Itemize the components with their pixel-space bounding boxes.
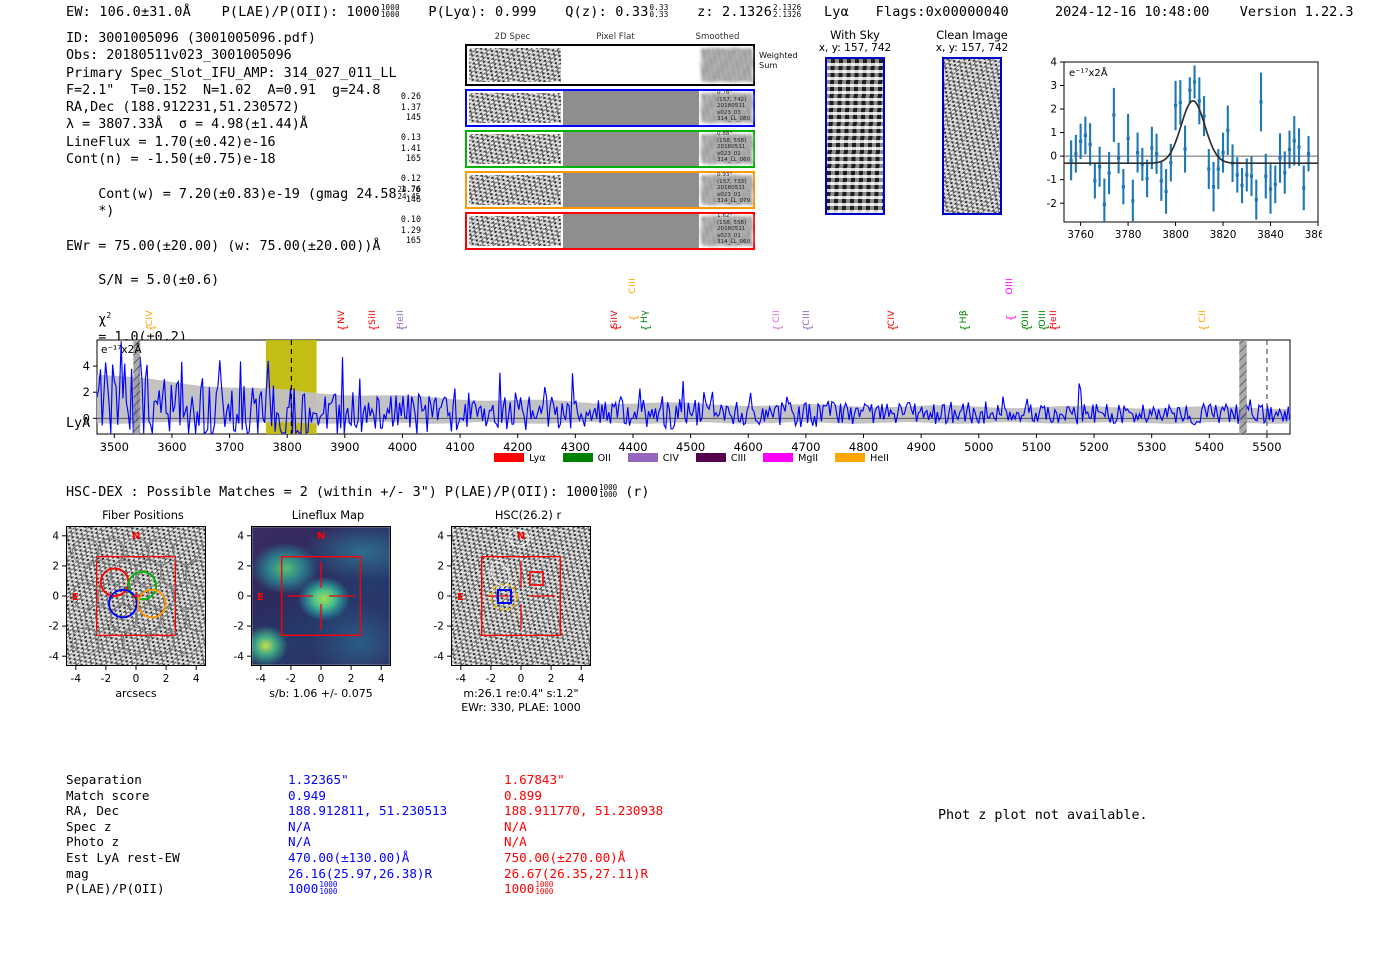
match-col1-value-value: 1000 bbox=[288, 881, 318, 896]
col-title-pixelflat: Pixel Flat bbox=[568, 32, 663, 42]
image-panel-canvas[interactable]: NE bbox=[451, 526, 591, 666]
fiber-meta-line: 0.78" bbox=[717, 90, 787, 97]
hsc-headline-text: HSC-DEX : Possible Matches = 2 (within +… bbox=[66, 485, 598, 500]
svg-text:-4: -4 bbox=[456, 673, 467, 685]
fiber-stat-value: 0.26 bbox=[383, 91, 421, 102]
match-table: Separation1.32365"1.67843"Match score0.9… bbox=[66, 772, 766, 912]
info-cont-w-tail: *) bbox=[98, 204, 114, 219]
svg-text:4: 4 bbox=[52, 530, 59, 542]
cutout-with-sky-coords: x, y: 157, 742 bbox=[805, 42, 905, 54]
svg-text:N: N bbox=[517, 531, 525, 542]
fiber-stat-value: 165 bbox=[383, 153, 421, 164]
match-col1-value: 100010001000 bbox=[288, 881, 337, 896]
svg-text:2: 2 bbox=[52, 561, 59, 573]
fit-y-tick: 2 bbox=[1050, 104, 1057, 116]
cutout-clean-image: Clean Image x, y: 157, 742 bbox=[922, 28, 1022, 215]
match-col2-value: 0.899 bbox=[504, 788, 542, 803]
weighted-sum-label: Weighted Sum bbox=[759, 50, 798, 70]
fiber-2dspec-image bbox=[469, 175, 561, 205]
header-summary-line: EW: 106.0±31.0Å P(LAE)/P(OII): 100010001… bbox=[66, 4, 1009, 20]
fiber-stat-value: 0.13 bbox=[383, 132, 421, 143]
match-col2-value: 750.00(±270.00)Å bbox=[504, 850, 625, 865]
fit-y-tick: -1 bbox=[1047, 174, 1057, 186]
info-radec: RA,Dec (188.912231,51.230572) bbox=[66, 99, 420, 116]
cutout-clean-title: Clean Image bbox=[922, 28, 1022, 42]
legend-item: CIII bbox=[696, 453, 746, 464]
svg-text:-2: -2 bbox=[434, 621, 444, 633]
match-col2-value-frac: 10001000 bbox=[535, 881, 553, 895]
fit-units-label: e⁻¹⁷x2Å bbox=[1069, 66, 1108, 79]
match-row-label: Spec z bbox=[66, 819, 276, 834]
fiber-row bbox=[465, 212, 755, 250]
fiber-meta-line: 0.88" bbox=[717, 131, 787, 138]
weighted-sum-pixelflat-image bbox=[563, 46, 699, 84]
info-ewr: EWr = 75.00(±20.00) (w: 75.00(±20.00))Å bbox=[66, 238, 420, 255]
fit-x-tick: 3820 bbox=[1210, 229, 1237, 241]
svg-text:4: 4 bbox=[378, 673, 385, 685]
svg-text:2: 2 bbox=[437, 561, 444, 573]
match-col1-value: 470.00(±130.00)Å bbox=[288, 850, 409, 865]
legend-label: Lyα bbox=[529, 453, 545, 464]
svg-text:-2: -2 bbox=[234, 621, 244, 633]
spectrum-y-tick: 0 bbox=[83, 411, 90, 425]
fiber-2dspec-image bbox=[469, 93, 561, 123]
image-panel-sublabel: EWr: 330, PLAE: 1000 bbox=[461, 701, 581, 714]
svg-text:2: 2 bbox=[237, 561, 244, 573]
info-cont-w: Cont(w) = 7.20(±0.83)e-19 (gmag 24.5824.… bbox=[66, 168, 420, 237]
weighted-sum-smoothed-image bbox=[701, 48, 753, 82]
cutout-clean-coords: x, y: 157, 742 bbox=[922, 42, 1022, 54]
svg-text:4: 4 bbox=[578, 673, 585, 685]
legend-swatch bbox=[563, 453, 593, 462]
svg-text:0: 0 bbox=[237, 591, 244, 603]
header-datetime-version: 2024-12-16 10:48:00 Version 1.22.3 bbox=[1055, 4, 1354, 20]
svg-text:-4: -4 bbox=[234, 651, 245, 663]
fiber-meta-line: 20180511 bbox=[717, 226, 787, 233]
photoz-message: Phot z plot not available. bbox=[938, 808, 1148, 823]
spectrum-y-tick: 4 bbox=[83, 359, 90, 373]
fiber-meta-line: 314_LL_060 bbox=[717, 157, 787, 164]
info-cont-w-text: Cont(w) = 7.20(±0.83)e-19 (gmag 24.58 bbox=[98, 187, 396, 202]
header-plya: P(Lyα): 0.999 bbox=[428, 4, 536, 20]
fiber-row bbox=[465, 171, 755, 209]
hsc-headline-tail: (r) bbox=[625, 485, 649, 500]
fiber-pixelflat-image bbox=[563, 214, 699, 248]
fiber-meta-line: v023_03 bbox=[717, 110, 787, 117]
weighted-sum-label-line1: Weighted bbox=[759, 50, 798, 60]
fit-x-tick: 3800 bbox=[1162, 229, 1189, 241]
legend-item: OII bbox=[563, 453, 611, 464]
svg-text:0: 0 bbox=[518, 673, 525, 685]
svg-text:-4: -4 bbox=[49, 651, 60, 663]
fiber-meta-line: (158, 558) bbox=[717, 138, 787, 145]
fiber-right-meta: 1.62"(158, 558)20180511v023_01314_LL_060 bbox=[717, 213, 787, 246]
image-panel-title: Fiber Positions bbox=[58, 508, 228, 522]
fiber-stat-value: 1.37 bbox=[383, 102, 421, 113]
info-obs: Obs: 20180511v023_3001005096 bbox=[66, 47, 420, 64]
weighted-sum-row bbox=[465, 44, 755, 86]
fiber-right-meta: 0.93"(157, 733)20180511v023_01314_LL_079 bbox=[717, 172, 787, 205]
fiber-stat-value: 146 bbox=[383, 194, 421, 205]
match-row-label: P(LAE)/P(OII) bbox=[66, 881, 276, 896]
svg-text:-2: -2 bbox=[49, 621, 59, 633]
fiber-row bbox=[465, 89, 755, 127]
fiber-meta-line: 20180511 bbox=[717, 144, 787, 151]
image-panel[interactable]: Lineflux MapNE-4-2024s/b: 1.06 +/- 0.075… bbox=[225, 508, 425, 522]
emission-line-fit-plot: e⁻¹⁷x2Å376037803800382038403860-2-101234 bbox=[1032, 54, 1322, 249]
fiber-stat-value: 1.41 bbox=[383, 143, 421, 154]
cutout-images-section: With Sky x, y: 157, 742 Clean Image x, y… bbox=[805, 28, 1020, 248]
fit-y-tick: -2 bbox=[1047, 198, 1057, 210]
match-col1-value-frac: 10001000 bbox=[319, 881, 337, 895]
header-z-frac: 2.13262.1326 bbox=[773, 4, 801, 18]
fiber-meta-line: 314_LL_080 bbox=[717, 116, 787, 123]
legend-swatch bbox=[763, 453, 793, 462]
svg-text:N: N bbox=[132, 531, 140, 542]
fiber-meta-line: 314_LL_079 bbox=[717, 198, 787, 205]
svg-text:0: 0 bbox=[437, 591, 444, 603]
fiber-meta-line: 1.62" bbox=[717, 213, 787, 220]
fiber-stat-value: 0.10 bbox=[383, 214, 421, 225]
two-d-spectra-section: 2D Spec Pixel Flat Smoothed Weighted Sum… bbox=[425, 32, 795, 247]
header-plae: P(LAE)/P(OII): 1000 bbox=[222, 4, 380, 20]
info-lineflux: LineFlux = 1.70(±0.42)e-16 bbox=[66, 134, 420, 151]
spectrum-units-label: e⁻¹⁷x2Å bbox=[101, 343, 142, 356]
header-ew: EW: 106.0±31.0Å bbox=[66, 4, 191, 20]
svg-text:-4: -4 bbox=[256, 673, 267, 685]
image-panel-canvas[interactable]: NE bbox=[251, 526, 391, 666]
match-col2-value-value: 1000 bbox=[504, 881, 534, 896]
legend-label: CIV bbox=[663, 453, 679, 464]
match-row-label: Est LyA rest-EW bbox=[66, 850, 276, 865]
header-datetime: 2024-12-16 10:48:00 bbox=[1055, 4, 1209, 20]
info-primary-spec: Primary Spec_Slot_IFU_AMP: 314_027_011_L… bbox=[66, 65, 420, 82]
svg-text:0: 0 bbox=[318, 673, 325, 685]
match-col2-value: 1.67843" bbox=[504, 772, 565, 787]
legend-item: MgII bbox=[763, 453, 818, 464]
legend-swatch bbox=[494, 453, 524, 462]
hsc-dex-headline: HSC-DEX : Possible Matches = 2 (within +… bbox=[66, 484, 649, 500]
fit-y-tick: 0 bbox=[1050, 151, 1057, 163]
match-col2-value: N/A bbox=[504, 834, 527, 849]
info-id: ID: 3001005096 (3001005096.pdf) bbox=[66, 30, 420, 47]
match-col1-value: N/A bbox=[288, 834, 311, 849]
header-version: Version 1.22.3 bbox=[1240, 4, 1354, 20]
image-panel-xlabel: s/b: 1.06 +/- 0.075 bbox=[269, 687, 373, 700]
fiber-meta-line: 314_LL_060 bbox=[717, 239, 787, 246]
fiber-stat-value: 1.76 bbox=[383, 184, 421, 195]
match-row-label: Match score bbox=[66, 788, 276, 803]
match-col2-value: N/A bbox=[504, 819, 527, 834]
cutout-with-sky: With Sky x, y: 157, 742 bbox=[805, 28, 905, 215]
match-col1-value: 188.912811, 51.230513 bbox=[288, 803, 447, 818]
svg-text:0: 0 bbox=[52, 591, 59, 603]
match-col2-value: 26.67(26.35,27.11)R bbox=[504, 866, 648, 881]
fiber-meta-line: v023_02 bbox=[717, 151, 787, 158]
fit-x-tick: 3840 bbox=[1257, 229, 1284, 241]
match-col1-value: 1.32365" bbox=[288, 772, 349, 787]
weighted-sum-2dspec-image bbox=[469, 48, 561, 82]
image-panel-xlabel: arcsecs bbox=[115, 687, 157, 700]
cutout-with-sky-title: With Sky bbox=[805, 28, 905, 42]
svg-text:-2: -2 bbox=[101, 673, 111, 685]
fit-x-tick: 3860 bbox=[1305, 229, 1322, 241]
legend-label: MgII bbox=[798, 453, 818, 464]
fit-x-tick: 3760 bbox=[1067, 229, 1094, 241]
legend-item: CIV bbox=[628, 453, 679, 464]
info-seeing: F=2.1" T=0.152 N=1.02 A=0.91 g=24.8 bbox=[66, 82, 420, 99]
match-row-label: mag bbox=[66, 866, 276, 881]
col-title-2dspec: 2D Spec bbox=[465, 32, 560, 42]
fiber-left-stats: 0.101.29165 bbox=[383, 214, 421, 246]
fiber-pixelflat-image bbox=[563, 132, 699, 166]
svg-text:E: E bbox=[457, 592, 464, 603]
svg-text:4: 4 bbox=[437, 530, 444, 542]
svg-text:-4: -4 bbox=[434, 651, 445, 663]
header-qz: Q(z): 0.33 bbox=[565, 4, 648, 20]
legend-label: HeII bbox=[870, 453, 889, 464]
svg-text:2: 2 bbox=[163, 673, 170, 685]
svg-text:-4: -4 bbox=[71, 673, 82, 685]
col-title-smoothed: Smoothed bbox=[670, 32, 765, 42]
svg-text:-2: -2 bbox=[286, 673, 296, 685]
svg-text:-2: -2 bbox=[486, 673, 496, 685]
match-col1-value: 26.16(25.97,26.38)R bbox=[288, 866, 432, 881]
info-cont-n: Cont(n) = -1.50(±0.75)e-18 bbox=[66, 151, 420, 168]
svg-text:2: 2 bbox=[548, 673, 555, 685]
header-z: z: 2.1326 bbox=[697, 4, 772, 20]
match-row-label: Separation bbox=[66, 772, 276, 787]
spectrum-legend: LyαOIICIVCIIIMgIIHeII bbox=[0, 448, 1400, 467]
image-panel-xlabel: m:26.1 re:0.4" s:1.2" bbox=[463, 687, 578, 700]
fit-y-tick: 3 bbox=[1050, 80, 1057, 92]
fit-y-tick: 1 bbox=[1050, 127, 1057, 139]
match-row-label: RA, Dec bbox=[66, 803, 276, 818]
legend-label: OII bbox=[598, 453, 611, 464]
header-plae-frac: 10001000 bbox=[381, 4, 400, 18]
fiber-stat-value: 165 bbox=[383, 235, 421, 246]
legend-item: Lyα bbox=[494, 453, 545, 464]
match-row-label: Photo z bbox=[66, 834, 276, 849]
fit-x-tick: 3780 bbox=[1115, 229, 1142, 241]
svg-text:2: 2 bbox=[348, 673, 355, 685]
fiber-row bbox=[465, 130, 755, 168]
fiber-meta-line: v023_01 bbox=[717, 233, 787, 240]
fiber-pixelflat-image bbox=[563, 91, 699, 125]
info-lambda-sigma: λ = 3807.33Å σ = 4.98(±1.44)Å bbox=[66, 116, 420, 133]
hsc-headline-frac: 10001000 bbox=[599, 484, 617, 498]
fiber-2dspec-image bbox=[469, 216, 561, 246]
fiber-meta-line: (158, 558) bbox=[717, 220, 787, 227]
fiber-stat-value: 145 bbox=[383, 112, 421, 123]
image-panel[interactable]: HSC(26.2) rNE-4-2024m:26.1 re:0.4" s:1.2… bbox=[425, 508, 625, 522]
fiber-right-meta: 0.88"(158, 558)20180511v023_02314_LL_060 bbox=[717, 131, 787, 164]
legend-swatch bbox=[628, 453, 658, 462]
header-qz-frac: 0.330.33 bbox=[650, 4, 669, 18]
fiber-stat-value: 0.12 bbox=[383, 173, 421, 184]
image-panel-title: Lineflux Map bbox=[243, 508, 413, 522]
svg-text:4: 4 bbox=[237, 530, 244, 542]
svg-text:4: 4 bbox=[193, 673, 200, 685]
fiber-pixelflat-image bbox=[563, 173, 699, 207]
cutout-with-sky-image bbox=[825, 57, 885, 215]
weighted-sum-label-line2: Sum bbox=[759, 60, 798, 70]
legend-item: HeII bbox=[835, 453, 889, 464]
spectrum-y-tick: 2 bbox=[83, 385, 90, 399]
fiber-stat-value: 1.29 bbox=[383, 225, 421, 236]
legend-swatch bbox=[835, 453, 865, 462]
fiber-meta-line: (157, 733) bbox=[717, 179, 787, 186]
legend-swatch bbox=[696, 453, 726, 462]
legend-label: CIII bbox=[731, 453, 746, 464]
image-panel-title: HSC(26.2) r bbox=[443, 508, 613, 522]
image-panels-row: Fiber PositionsNE-4-2024arcsecs420-2-4Li… bbox=[40, 508, 660, 738]
svg-text:N: N bbox=[317, 531, 325, 542]
header-line-name: Lyα bbox=[824, 4, 849, 20]
header-flags: Flags:0x00000040 bbox=[876, 4, 1009, 20]
fiber-right-meta: 0.78"(157, 742)20180511v023_03314_LL_080 bbox=[717, 90, 787, 123]
image-panel[interactable]: Fiber PositionsNE-4-2024arcsecs420-2-4 bbox=[40, 508, 240, 522]
match-col1-value: N/A bbox=[288, 819, 311, 834]
image-panel-canvas[interactable]: NE bbox=[66, 526, 206, 666]
fiber-2dspec-image bbox=[469, 134, 561, 164]
match-col2-value: 188.911770, 51.230938 bbox=[504, 803, 663, 818]
svg-text:E: E bbox=[257, 592, 264, 603]
fiber-meta-line: v023_01 bbox=[717, 192, 787, 199]
full-spectrum-section: CIV{NV{SiII{HeII{SiIV{CIII{Hγ{CII{CIII{C… bbox=[0, 262, 1400, 477]
match-col2-value: 100010001000 bbox=[504, 881, 553, 896]
fiber-meta-line: (157, 742) bbox=[717, 97, 787, 104]
match-col1-value: 0.949 bbox=[288, 788, 326, 803]
fit-y-tick: 4 bbox=[1050, 57, 1057, 69]
svg-text:0: 0 bbox=[133, 673, 140, 685]
fiber-left-stats: 0.121.76146 bbox=[383, 173, 421, 205]
fiber-meta-line: 0.93" bbox=[717, 172, 787, 179]
fiber-left-stats: 0.131.41165 bbox=[383, 132, 421, 164]
fiber-meta-line: 20180511 bbox=[717, 185, 787, 192]
fiber-meta-line: 20180511 bbox=[717, 103, 787, 110]
cutout-clean-image-img bbox=[942, 57, 1002, 215]
svg-text:E: E bbox=[72, 592, 79, 603]
fiber-left-stats: 0.261.37145 bbox=[383, 91, 421, 123]
